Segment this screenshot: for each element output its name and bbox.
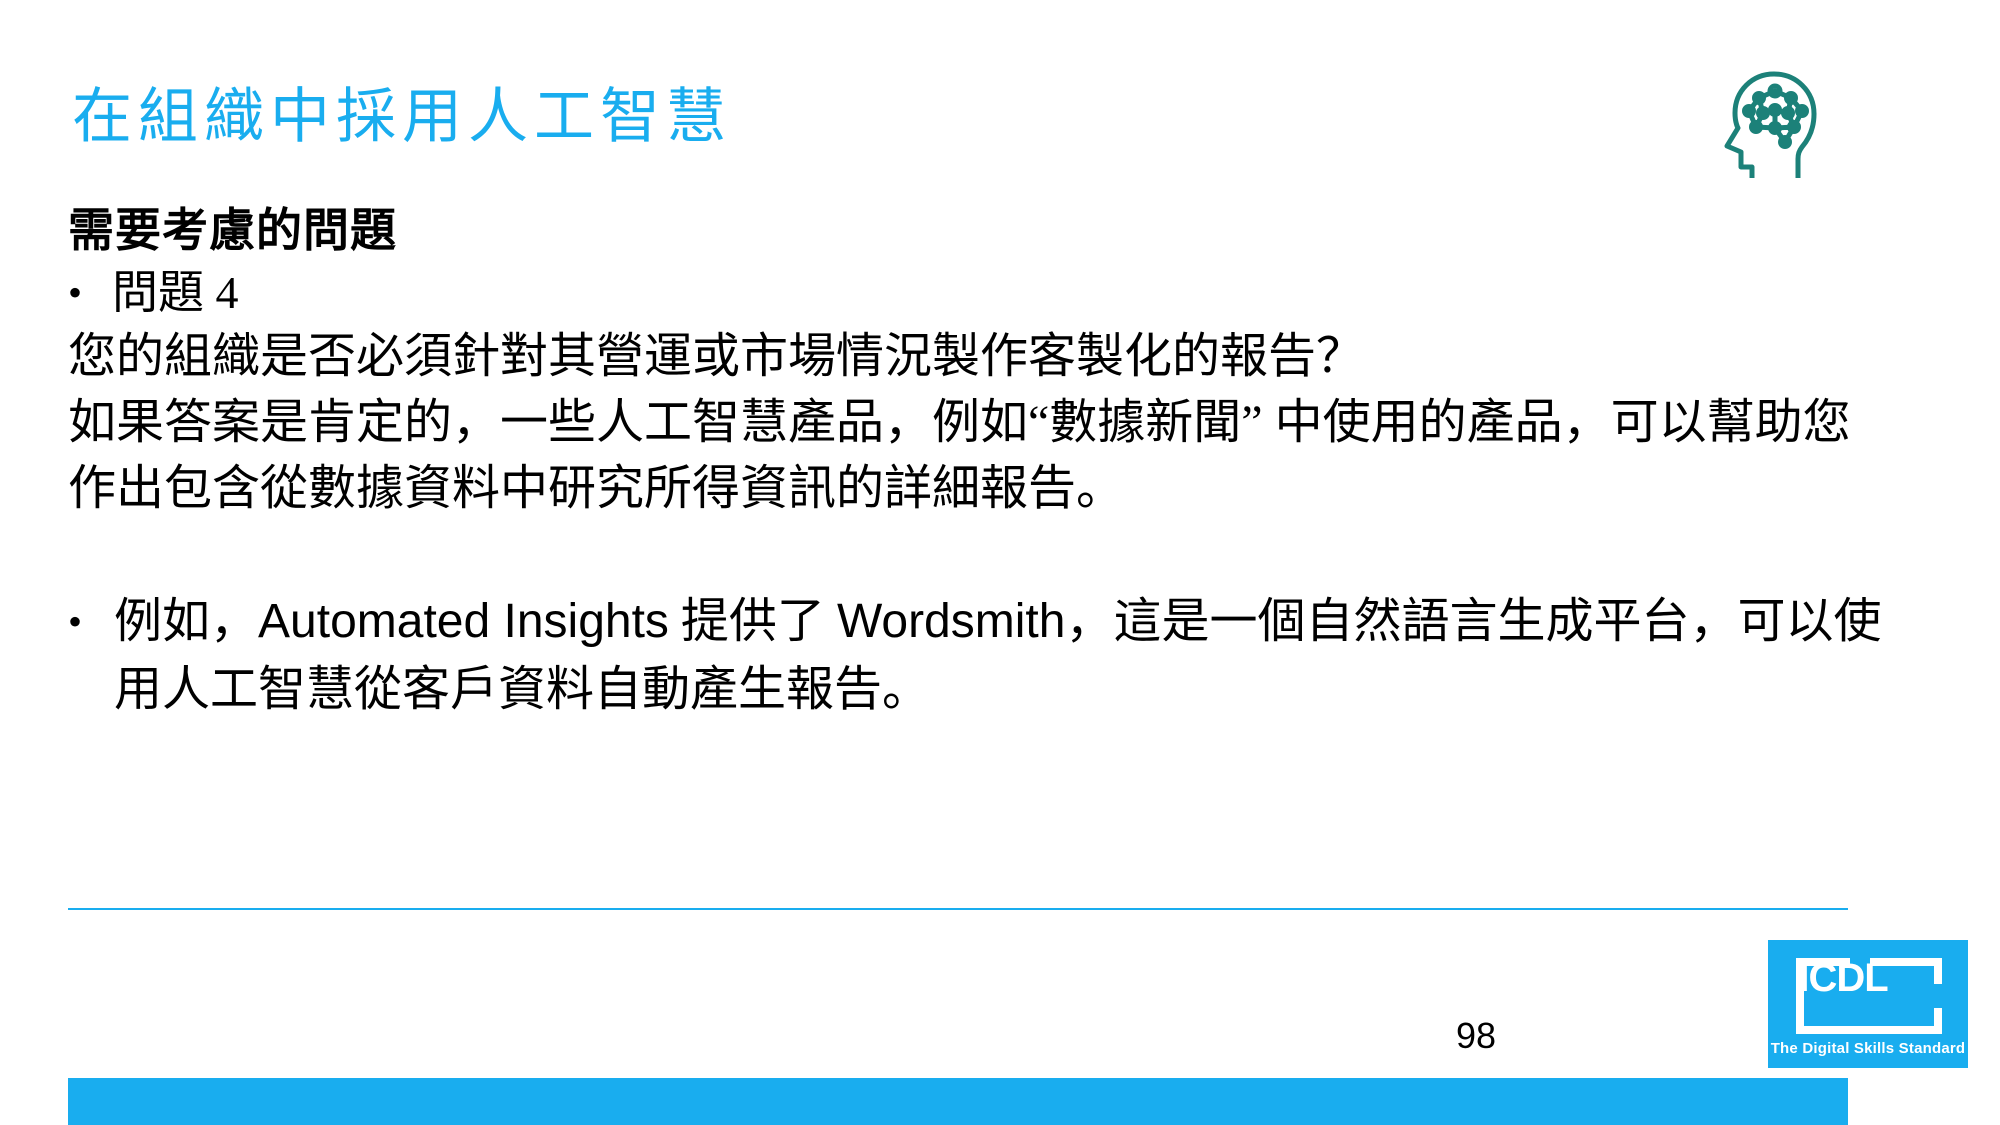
icdl-tagline: The Digital Skills Standard	[1768, 1040, 1968, 1057]
footer-accent-bar	[68, 1078, 1848, 1125]
bullet-marker-icon: •	[68, 262, 112, 324]
example-text-lead: 例如，	[114, 595, 258, 648]
example-product-name: Wordsmith	[837, 595, 1066, 648]
icdl-wordmark: ICDL	[1768, 940, 1918, 1016]
page-number: 98	[1416, 1015, 1536, 1057]
paragraph-answer: 如果答案是肯定的，一些人工智慧產品，例如“數據新聞” 中使用的產品，可以幫助您作…	[68, 390, 1868, 522]
bullet-item-question-label: 問題 4	[112, 262, 1908, 324]
ai-brain-head-icon-svg	[1718, 66, 1838, 178]
paragraph-question: 您的組織是否必須針對其營運或市場情況製作客製化的報告？	[68, 324, 1908, 390]
paragraph-spacer	[68, 522, 1908, 588]
page-title: 在組織中採用人工智慧	[72, 82, 732, 152]
example-product-vendor: Automated Insights	[258, 595, 669, 648]
bullet-item-example: • 例如，Automated Insights 提供了 Wordsmith，這是…	[68, 588, 1908, 724]
example-text-mid: 提供了	[669, 595, 837, 648]
slide-canvas: 在組織中採用人工智慧 需要考慮的問題 • 問題	[0, 0, 2000, 1125]
bullet-item-question: • 問題 4	[68, 262, 1908, 324]
footer-divider	[68, 908, 1848, 910]
icdl-logo: ICDL The Digital Skills Standard	[1768, 940, 1968, 1068]
bullet-marker-icon: •	[68, 588, 114, 656]
ai-brain-head-icon	[1718, 66, 1838, 178]
body-heading: 需要考慮的問題	[68, 200, 1908, 262]
bullet-item-example-label: 例如，Automated Insights 提供了 Wordsmith，這是一個…	[114, 588, 1908, 724]
slide-body: 需要考慮的問題 • 問題 4 您的組織是否必須針對其營運或市場情況製作客製化的報…	[68, 200, 1908, 724]
